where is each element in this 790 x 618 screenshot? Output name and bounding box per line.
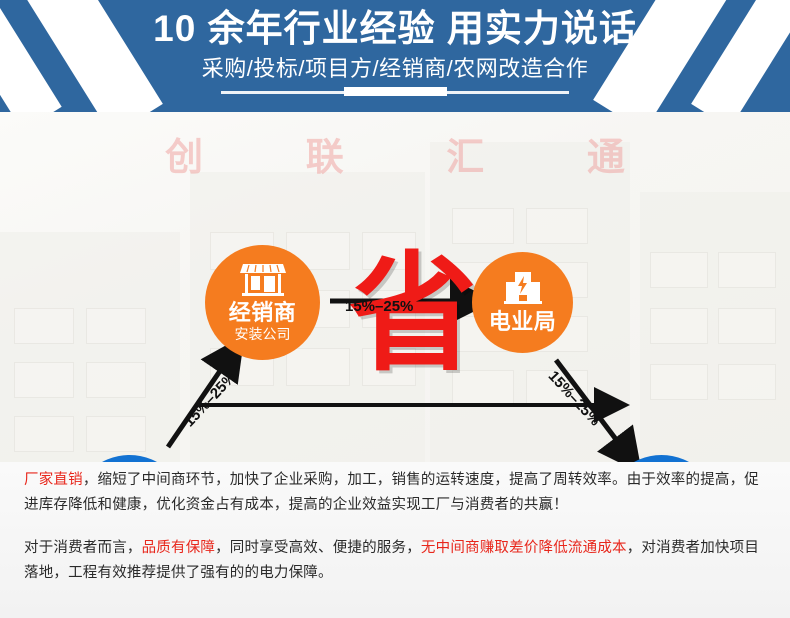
- node-dealer[interactable]: 经销商 安装公司: [205, 245, 320, 360]
- flow-diagram: 创 联 汇 通 省: [0, 112, 790, 462]
- description-paragraph-2: 对于消费者而言，品质有保障，同时享受高效、便捷的服务，无中间商赚取差价降低流通成…: [24, 536, 772, 586]
- paragraph-2-part-c: ，同时享受高效、便捷的服务，: [215, 540, 421, 556]
- arrow-label-dealer-to-power: 15%–25%: [345, 298, 413, 315]
- shop-icon: [240, 262, 286, 301]
- highlight-quality-guarantee: 品质有保障: [142, 540, 216, 556]
- bottom-description: 厂家直销，缩短了中间商环节，加快了企业采购，加工，销售的运转速度，提高了周转效率…: [0, 462, 790, 618]
- highlight-no-middleman: 无中间商赚取差价降低流通成本: [421, 540, 627, 556]
- description-paragraph-1-rest: ，缩短了中间商环节，加快了企业采购，加工，销售的运转速度，提高了周转效率。由于效…: [24, 472, 759, 513]
- header-divider-center-bar: [344, 87, 447, 96]
- node-power-bureau-title: 电业局: [489, 310, 557, 334]
- header-subtitle: 采购/投标/项目方/经销商/农网改造合作: [0, 55, 790, 83]
- center-savings-character: 省: [333, 245, 493, 385]
- node-dealer-title: 经销商: [229, 301, 297, 325]
- header-banner: 10 余年行业经验 用实力说话 采购/投标/项目方/经销商/农网改造合作: [0, 0, 790, 112]
- promo-banner: 10 余年行业经验 用实力说话 采购/投标/项目方/经销商/农网改造合作: [0, 0, 790, 618]
- power-building-icon: [503, 271, 543, 310]
- node-dealer-subtitle: 安装公司: [235, 326, 291, 343]
- paragraph-2-part-a: 对于消费者而言，: [24, 540, 142, 556]
- highlight-factory-direct: 厂家直销: [24, 472, 83, 488]
- node-power-bureau[interactable]: 电业局: [472, 252, 573, 353]
- description-paragraph-1: 厂家直销，缩短了中间商环节，加快了企业采购，加工，销售的运转速度，提高了周转效率…: [24, 468, 772, 518]
- header-title: 10 余年行业经验 用实力说话: [0, 7, 790, 51]
